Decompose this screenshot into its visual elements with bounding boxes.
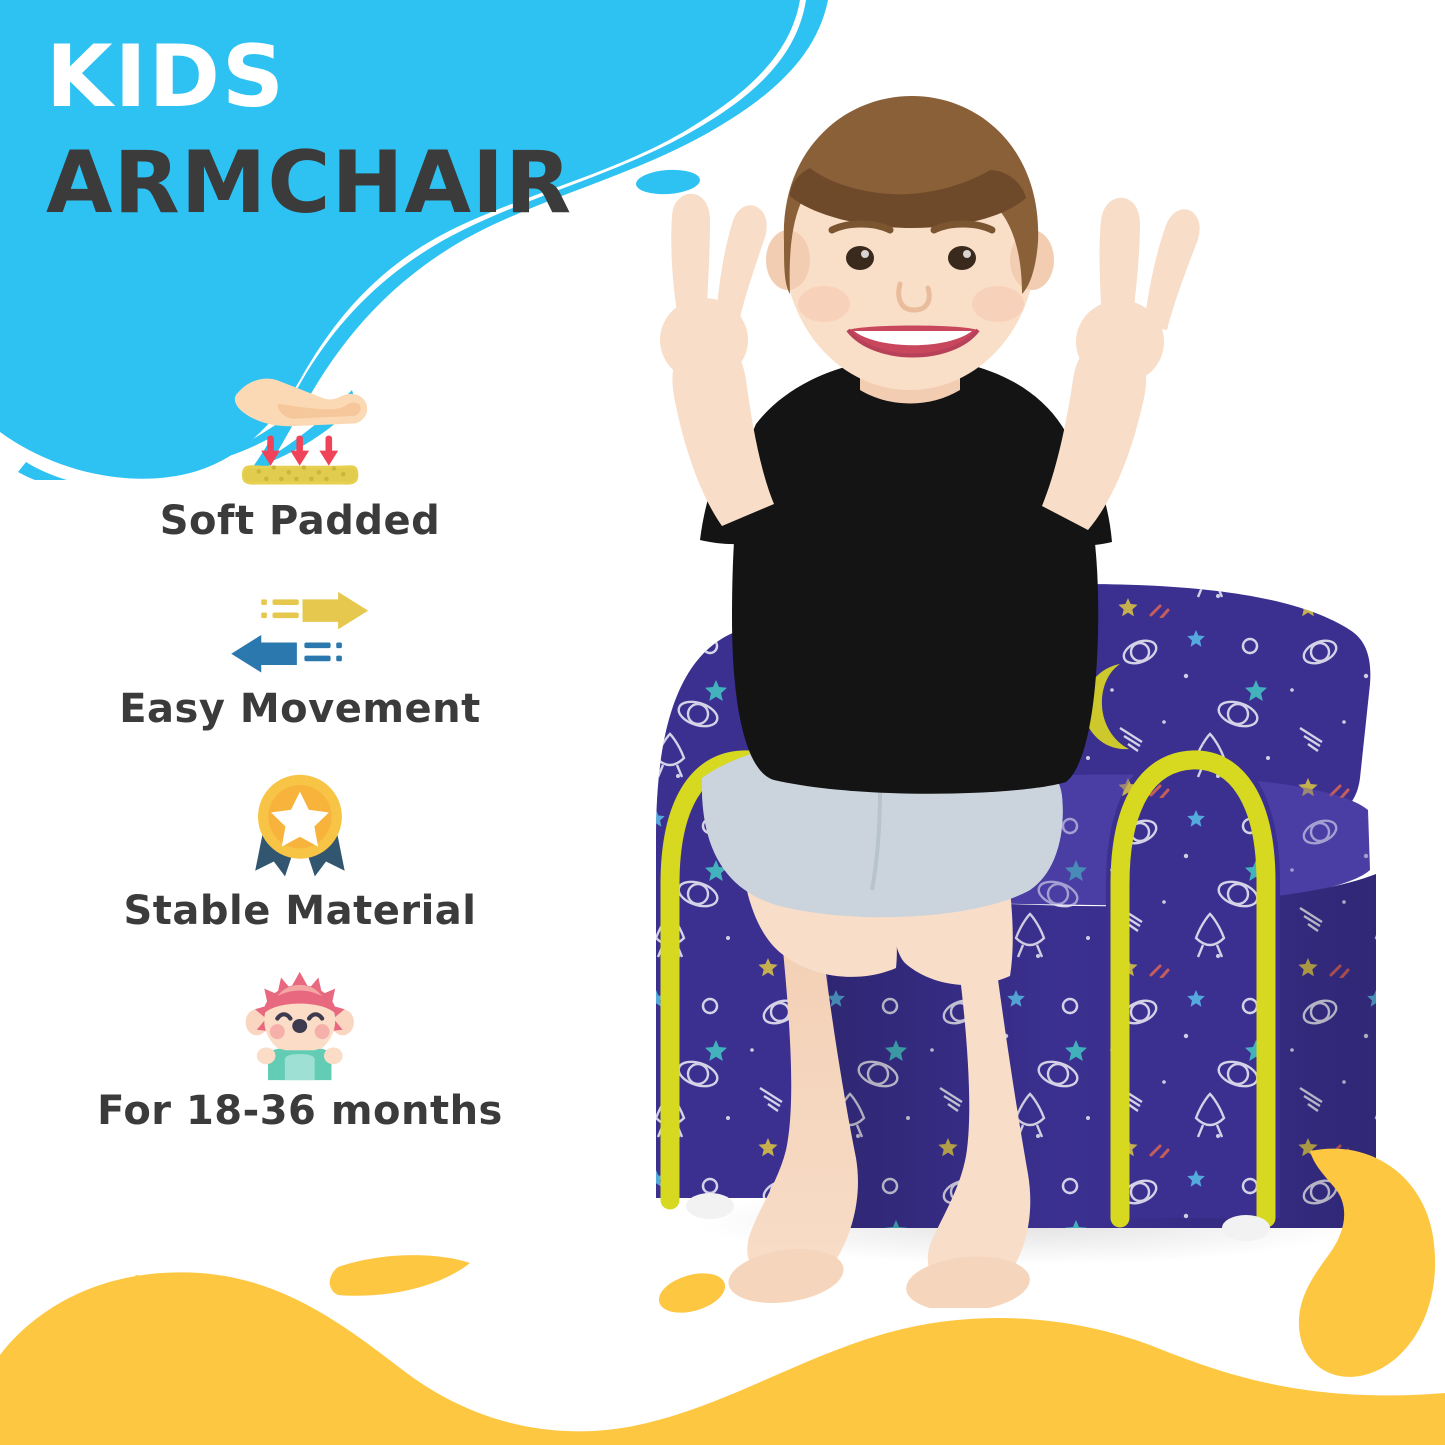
- feature-label: Stable Material: [0, 888, 600, 934]
- feature-label: Easy Movement: [0, 686, 600, 732]
- bidirectional-arrows-icon: [220, 590, 379, 680]
- hand-pressing-cushion-icon: [225, 368, 375, 492]
- product-photo-boy-in-armchair: [560, 78, 1445, 1308]
- feature-list: Soft Padded Easy M: [0, 368, 600, 1142]
- feature-item-soft-padded: Soft Padded: [0, 368, 600, 544]
- page-title-line1: KIDS: [46, 34, 286, 120]
- award-medal-icon: [244, 772, 356, 882]
- child-face-icon: [240, 970, 359, 1082]
- feature-label: Soft Padded: [0, 498, 600, 544]
- feature-item-stable-material: Stable Material: [0, 772, 600, 934]
- feature-item-age-range: For 18-36 months: [0, 970, 600, 1134]
- feature-label: For 18-36 months: [0, 1088, 600, 1134]
- feature-item-easy-movement: Easy Movement: [0, 590, 600, 732]
- product-marketing-banner: KIDS ARMCHAIR: [0, 0, 1445, 1445]
- page-title-line2: ARMCHAIR: [46, 140, 572, 226]
